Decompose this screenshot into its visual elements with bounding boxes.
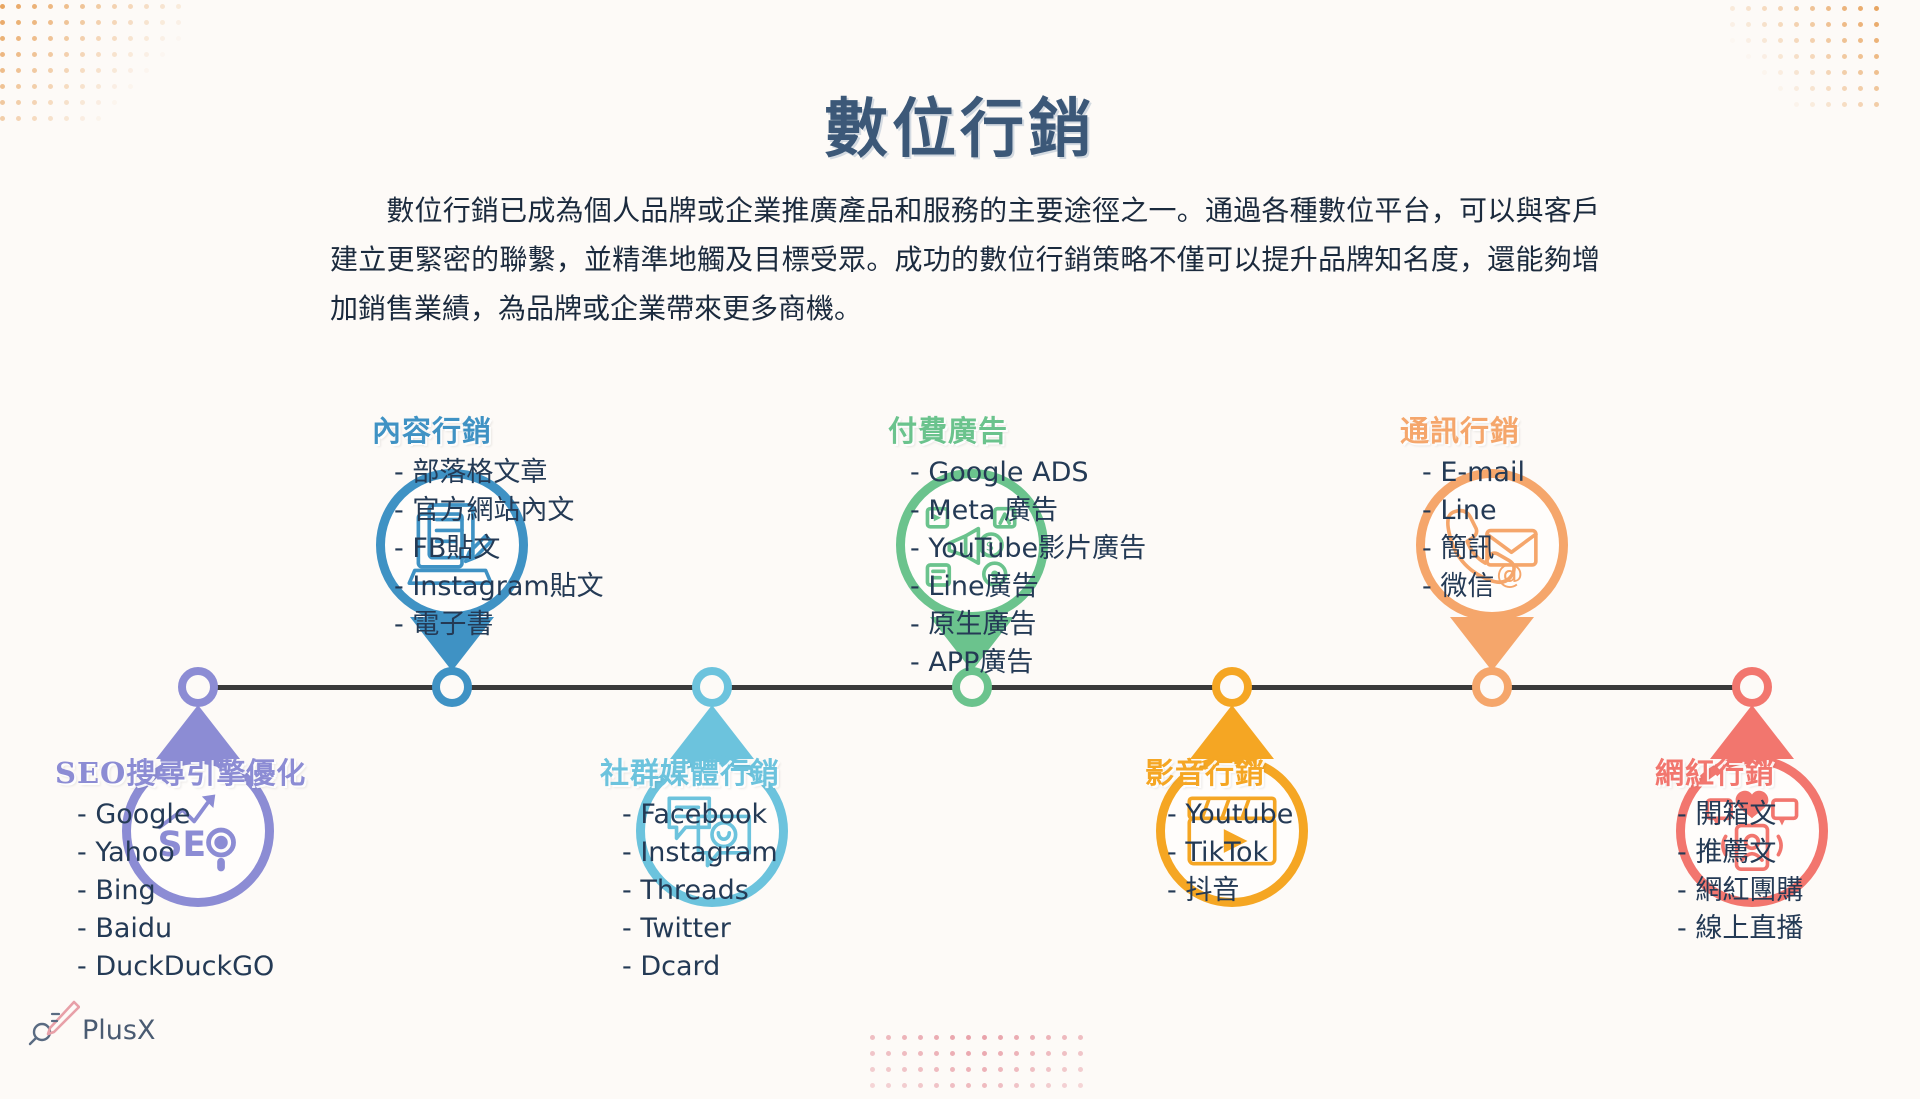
node-block-social: 社群媒體行銷- Facebook- Instagram- Threads- Tw… — [600, 750, 780, 986]
node-heading-social: 社群媒體行銷 — [600, 750, 780, 792]
list-item: - Facebook — [622, 796, 780, 834]
node-heading-messaging: 通訊行銷 — [1400, 408, 1525, 450]
brand-logo: PlusX — [28, 1000, 155, 1046]
list-item: - APP廣告 — [910, 644, 1146, 682]
list-item: - Dcard — [622, 948, 780, 986]
node-list-paidads: - Google ADS- Meta 廣告- YouTube影片廣告- Line… — [888, 454, 1146, 682]
list-item: - 簡訊 — [1422, 530, 1525, 568]
list-item: - Meta 廣告 — [910, 492, 1146, 530]
infographic-canvas: 數位行銷 數位行銷已成為個人品牌或企業推廣產品和服務的主要途徑之一。通過各種數位… — [0, 0, 1920, 1080]
node-block-content: 內容行銷- 部落格文章- 官方網站內文- FB貼文- Instagram貼文- … — [372, 408, 604, 644]
list-item: - Instagram貼文 — [394, 568, 604, 606]
intro-paragraph: 數位行銷已成為個人品牌或企業推廣產品和服務的主要途徑之一。通過各種數位平台，可以… — [330, 186, 1600, 333]
list-item: - 網紅團購 — [1677, 872, 1803, 910]
node-block-influencer: 網紅行銷- 開箱文- 推薦文- 網紅團購- 線上直播 — [1655, 750, 1803, 948]
list-item: - Yahoo — [77, 834, 306, 872]
timeline-dot-seo[interactable] — [178, 667, 218, 707]
list-item: - DuckDuckGO — [77, 948, 306, 986]
timeline-dot-social[interactable] — [692, 667, 732, 707]
pencil-search-logo-icon — [28, 1000, 80, 1046]
pin-tail-messaging — [1450, 617, 1534, 671]
brand-logo-text: PlusX — [82, 1015, 155, 1046]
list-item: - YouTube影片廣告 — [910, 530, 1146, 568]
list-item: - Threads — [622, 872, 780, 910]
timeline-dot-video[interactable] — [1212, 667, 1252, 707]
list-item: - 微信 — [1422, 568, 1525, 606]
list-item: - Line廣告 — [910, 568, 1146, 606]
node-list-messaging: - E-mail- Line- 簡訊- 微信 — [1400, 454, 1525, 606]
node-list-video: - Youtube- TikTok- 抖音 — [1145, 796, 1293, 910]
node-heading-video: 影音行銷 — [1145, 750, 1293, 792]
list-item: - Google — [77, 796, 306, 834]
intro-paragraph-text: 數位行銷已成為個人品牌或企業推廣產品和服務的主要途徑之一。通過各種數位平台，可以… — [330, 194, 1600, 325]
timeline-dot-influencer[interactable] — [1732, 667, 1772, 707]
node-heading-content: 內容行銷 — [372, 408, 604, 450]
list-item: - FB貼文 — [394, 530, 604, 568]
list-item: - 電子書 — [394, 606, 604, 644]
node-list-social: - Facebook- Instagram- Threads- Twitter-… — [600, 796, 780, 986]
node-block-messaging: 通訊行銷- E-mail- Line- 簡訊- 微信 — [1400, 408, 1525, 606]
list-item: - Line — [1422, 492, 1525, 530]
node-list-influencer: - 開箱文- 推薦文- 網紅團購- 線上直播 — [1655, 796, 1803, 948]
list-item: - 官方網站內文 — [394, 492, 604, 530]
timeline-dot-messaging[interactable] — [1472, 667, 1512, 707]
list-item: - Instagram — [622, 834, 780, 872]
page-title: 數位行銷 — [0, 78, 1920, 170]
node-list-content: - 部落格文章- 官方網站內文- FB貼文- Instagram貼文- 電子書 — [372, 454, 604, 644]
list-item: - Twitter — [622, 910, 780, 948]
list-item: - Baidu — [77, 910, 306, 948]
list-item: - 線上直播 — [1677, 910, 1803, 948]
list-item: - Youtube — [1167, 796, 1293, 834]
list-item: - E-mail — [1422, 454, 1525, 492]
node-heading-paidads: 付費廣告 — [888, 408, 1146, 450]
node-block-seo: SEO搜尋引擎優化- Google- Yahoo- Bing- Baidu- D… — [55, 750, 306, 986]
list-item: - Google ADS — [910, 454, 1146, 492]
list-item: - TikTok — [1167, 834, 1293, 872]
node-block-paidads: 付費廣告- Google ADS- Meta 廣告- YouTube影片廣告- … — [888, 408, 1146, 682]
list-item: - 推薦文 — [1677, 834, 1803, 872]
node-heading-seo: SEO搜尋引擎優化 — [55, 750, 306, 792]
node-heading-influencer: 網紅行銷 — [1655, 750, 1803, 792]
node-block-video: 影音行銷- Youtube- TikTok- 抖音 — [1145, 750, 1293, 910]
node-list-seo: - Google- Yahoo- Bing- Baidu- DuckDuckGO — [55, 796, 306, 986]
list-item: - 開箱文 — [1677, 796, 1803, 834]
timeline-dot-content[interactable] — [432, 667, 472, 707]
list-item: - Bing — [77, 872, 306, 910]
decorative-dot-grid-bottom-center — [870, 1035, 1094, 1099]
list-item: - 原生廣告 — [910, 606, 1146, 644]
list-item: - 部落格文章 — [394, 454, 604, 492]
list-item: - 抖音 — [1167, 872, 1293, 910]
